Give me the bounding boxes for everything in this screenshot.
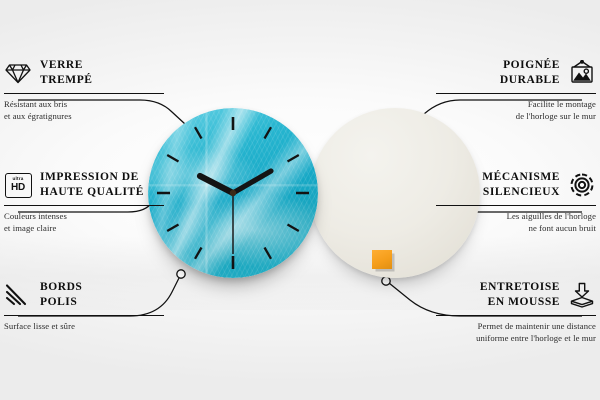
feature-divider	[4, 205, 164, 206]
feature-description: Facilite le montagede l'horloge sur le m…	[436, 98, 596, 122]
feature-title: POIGNÉEDURABLE	[500, 58, 560, 87]
clock-hands	[200, 171, 271, 254]
hd-main-label: HD	[11, 183, 25, 193]
feature-divider	[4, 315, 164, 316]
feature-divider	[436, 93, 596, 94]
feature-foam-spacer[interactable]: ENTRETOISEEN MOUSSE Permet de maintenir …	[436, 278, 596, 344]
node-foam-spacer	[382, 277, 390, 285]
clock-center-cap	[230, 190, 236, 196]
feature-description: Couleurs intenseset image claire	[4, 210, 164, 234]
feature-header: MÉCANISMESILENCIEUX	[436, 168, 596, 202]
feature-divider	[4, 93, 164, 94]
feature-description: Les aiguilles de l'horlogene font aucun …	[436, 210, 596, 234]
feature-description: Résistant aux briset aux égratignures	[4, 98, 164, 122]
infographic-canvas: VERRETREMPÉ Résistant aux briset aux égr…	[0, 0, 600, 400]
feature-header: ENTRETOISEEN MOUSSE	[436, 278, 596, 312]
ultra-hd-icon: ultra HD	[4, 171, 32, 199]
feature-divider	[436, 315, 596, 316]
feature-title: VERRETREMPÉ	[40, 58, 93, 87]
hour-hand	[200, 176, 233, 193]
feature-handle[interactable]: POIGNÉEDURABLE Facilite le montagede l'h…	[436, 56, 596, 122]
feature-divider	[436, 205, 596, 206]
feature-title: BORDSPOLIS	[40, 280, 82, 309]
clock-front-face	[148, 108, 318, 278]
arrow-onto-pad-icon	[568, 281, 596, 309]
feature-title: MÉCANISMESILENCIEUX	[482, 170, 560, 199]
feature-description: Permet de maintenir une distanceuniforme…	[436, 320, 596, 344]
hanging-frame-icon	[568, 59, 596, 87]
feature-polished-edges[interactable]: BORDSPOLIS Surface lisse et sûre	[4, 278, 164, 332]
gear-icon	[568, 171, 596, 199]
feature-header: BORDSPOLIS	[4, 278, 164, 312]
hatched-lines-icon	[4, 281, 32, 309]
feature-title: IMPRESSION DEHAUTE QUALITÉ	[40, 170, 144, 199]
feature-tempered-glass[interactable]: VERRETREMPÉ Résistant aux briset aux égr…	[4, 56, 164, 122]
minute-hand	[233, 171, 271, 193]
diamond-icon	[4, 59, 32, 87]
feature-header: VERRETREMPÉ	[4, 56, 164, 90]
feature-mechanism[interactable]: MÉCANISMESILENCIEUX Les aiguilles de l'h…	[436, 168, 596, 234]
foam-spacer-pad	[372, 250, 392, 269]
feature-description: Surface lisse et sûre	[4, 320, 164, 332]
feature-title: ENTRETOISEEN MOUSSE	[480, 280, 560, 309]
feature-header: ultra HD IMPRESSION DEHAUTE QUALITÉ	[4, 168, 164, 202]
feature-header: POIGNÉEDURABLE	[436, 56, 596, 90]
feature-print-quality[interactable]: ultra HD IMPRESSION DEHAUTE QUALITÉ Coul…	[4, 168, 164, 234]
clock-dial	[148, 108, 318, 278]
